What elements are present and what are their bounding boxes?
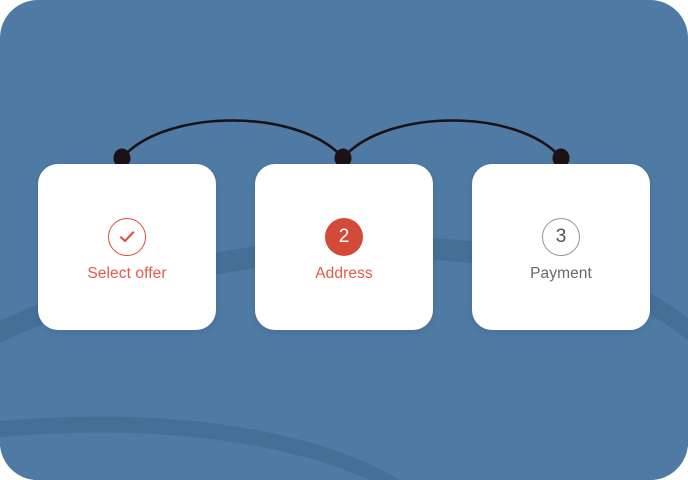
step-label-select-offer: Select offer [87, 266, 166, 282]
step-card-address[interactable]: 2 Address [255, 164, 433, 330]
decorative-swoosh-lower [0, 382, 470, 480]
step-card-payment[interactable]: 3 Payment [472, 164, 650, 330]
stepper-screen: Select offer 2 Address 3 Payment [0, 0, 688, 480]
check-mark-icon [117, 227, 137, 247]
step-number-address: 2 [339, 227, 350, 246]
step-card-list: Select offer 2 Address 3 Payment [38, 164, 650, 330]
number-badge-icon-3: 3 [542, 218, 580, 256]
step-label-address: Address [315, 266, 373, 282]
decorative-swoosh-lower-mask [0, 398, 470, 480]
arc-step1-to-step2 [122, 121, 343, 159]
arc-step2-to-step3 [343, 121, 561, 159]
number-badge-icon-2: 2 [325, 218, 363, 256]
step-label-payment: Payment [530, 266, 592, 282]
checkout-panel: Select offer 2 Address 3 Payment [0, 0, 688, 480]
step-card-select-offer[interactable]: Select offer [38, 164, 216, 330]
check-circle-icon [108, 218, 146, 256]
step-number-payment: 3 [556, 227, 567, 246]
